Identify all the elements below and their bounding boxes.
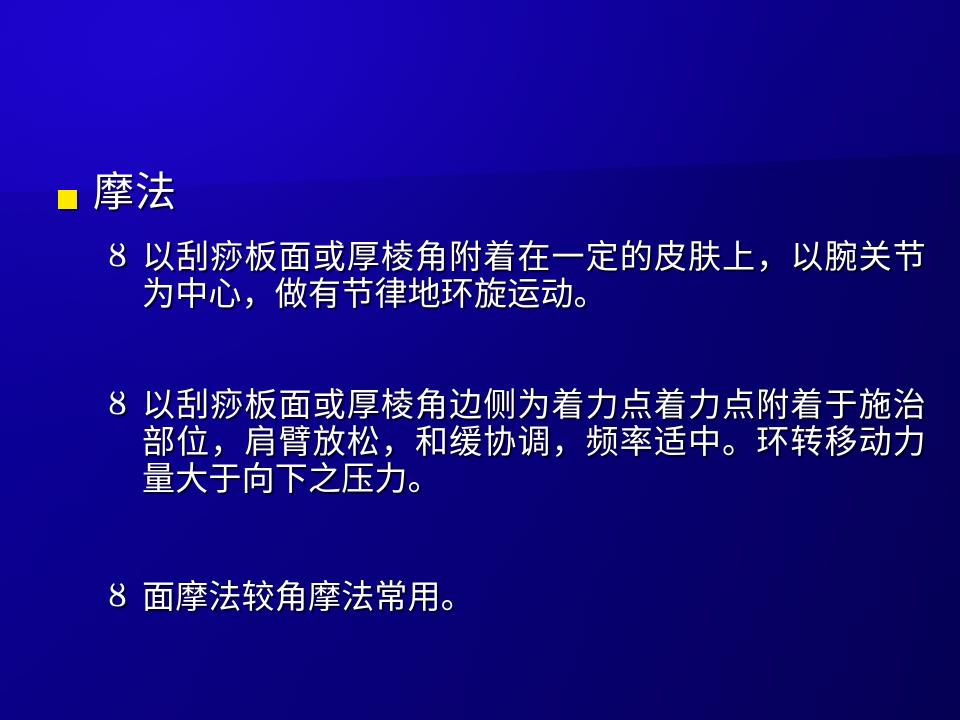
bullet-paragraph-1: ȣ 以刮痧板面或厚棱角附着在一定的皮肤上，以腕关节为中心，做有节律地环旋运动。 <box>108 238 926 312</box>
bullet-paragraph-3: ȣ 面摩法较角摩法常用。 <box>108 578 926 615</box>
presentation-slide: 摩法 ȣ 以刮痧板面或厚棱角附着在一定的皮肤上，以腕关节为中心，做有节律地环旋运… <box>0 0 960 720</box>
slide-content: 摩法 ȣ 以刮痧板面或厚棱角附着在一定的皮肤上，以腕关节为中心，做有节律地环旋运… <box>0 0 960 720</box>
bullet-row: ȣ 以刮痧板面或厚棱角边侧为着力点着力点附着于施治部位，肩臂放松，和缓协调，频率… <box>108 386 926 497</box>
bullet-row: ȣ 面摩法较角摩法常用。 <box>108 578 926 615</box>
bullet-text-2: 以刮痧板面或厚棱角边侧为着力点着力点附着于施治部位，肩臂放松，和缓协调，频率适中… <box>142 386 926 497</box>
bullet-paragraph-2: ȣ 以刮痧板面或厚棱角边侧为着力点着力点附着于施治部位，肩臂放松，和缓协调，频率… <box>108 386 926 497</box>
square-bullet-icon <box>58 190 77 209</box>
slide-title: 摩法 <box>93 168 177 216</box>
open-book-bullet-icon: ȣ <box>108 238 147 275</box>
open-book-bullet-icon: ȣ <box>108 386 147 423</box>
bullet-text-3: 面摩法较角摩法常用。 <box>142 578 926 615</box>
bullet-row: ȣ 以刮痧板面或厚棱角附着在一定的皮肤上，以腕关节为中心，做有节律地环旋运动。 <box>108 238 926 312</box>
open-book-bullet-icon: ȣ <box>108 578 147 615</box>
heading-row: 摩法 <box>58 168 177 216</box>
bullet-text-1: 以刮痧板面或厚棱角附着在一定的皮肤上，以腕关节为中心，做有节律地环旋运动。 <box>142 238 926 312</box>
